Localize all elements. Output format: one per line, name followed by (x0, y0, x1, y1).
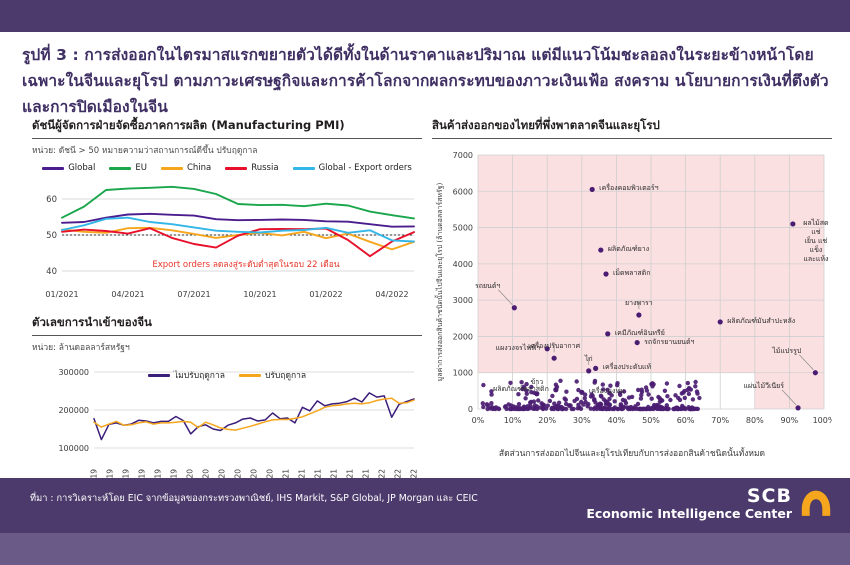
pmi-title: ดัชนีผู้จัดการฝ่ายจัดซื้อภาคการผลิต (Man… (32, 117, 422, 139)
scatter-point-labeled[interactable] (512, 305, 517, 310)
scatter-point (629, 405, 633, 409)
legend-swatch-global (42, 167, 64, 170)
scatter-point-labeled[interactable] (552, 356, 557, 361)
top-purple-band (0, 0, 850, 32)
source-note: ที่มา : การวิเคราะห์โดย EIC จากข้อมูลของ… (30, 491, 478, 506)
scatter-point (636, 402, 640, 406)
legend-swatch-china (161, 167, 183, 170)
svg-text:40%: 40% (608, 416, 626, 425)
scatter-point (693, 384, 697, 388)
scatter-point (665, 394, 669, 398)
legend-item-global[interactable]: Global (42, 163, 95, 173)
legend-item-eu[interactable]: EU (109, 163, 147, 173)
scatter-point (644, 385, 648, 389)
scatter-point (693, 380, 697, 384)
scatter-point (564, 398, 568, 402)
scatter-point (641, 407, 645, 411)
scatter-point (650, 397, 654, 401)
svg-text:30%: 30% (573, 416, 591, 425)
scatter-point (593, 405, 597, 409)
scatter-title: สินค้าส่งออกของไทยที่พึ่งพาตลาดจีนและยุโ… (432, 117, 832, 139)
scatter-point (571, 407, 575, 411)
scatter-label: ผลิตภัณฑ์มันสำปะหลัง (727, 317, 795, 326)
scatter-point (665, 381, 669, 385)
scatter-point (640, 388, 644, 392)
svg-text:60: 60 (46, 195, 57, 205)
scb-brand: SCB Economic Intelligence Center (586, 486, 832, 521)
scatter-point (623, 398, 627, 402)
legend-swatch-export-orders (293, 167, 315, 170)
scatter-point-labeled[interactable] (718, 319, 723, 324)
scatter-point (668, 398, 672, 402)
legend-swatch-eu (109, 167, 131, 170)
scatter-point-labeled[interactable] (590, 187, 595, 192)
svg-text:7000: 7000 (453, 151, 473, 160)
scatter-point (613, 399, 617, 403)
scatter-point (572, 399, 576, 403)
scatter-point-labeled[interactable] (579, 390, 584, 395)
scatter-chart: 010002000300040005000600070000%10%20%30%… (432, 147, 832, 442)
scatter-point (675, 407, 679, 411)
scatter-point (677, 384, 681, 388)
svg-text:4000: 4000 (453, 260, 473, 269)
scatter-label: เครื่องประดับแท้ (603, 363, 652, 372)
scatter-label: ข้าว (530, 378, 543, 387)
scatter-label: ผลไม้สด แช่เย็น แช่แข็งและแห้ง (800, 219, 832, 264)
pmi-xtick: 04/2022 (375, 290, 408, 299)
scatter-point (630, 395, 634, 399)
scatter-point-labeled[interactable] (790, 221, 795, 226)
legend-item-export-orders[interactable]: Global - Export orders (293, 163, 412, 173)
scatter-point (661, 407, 665, 411)
scatter-point (639, 393, 643, 397)
pmi-xtick: 10/2021 (243, 290, 276, 299)
scatter-point (546, 404, 550, 408)
scatter-point (598, 402, 602, 406)
svg-text:0%: 0% (472, 416, 485, 425)
scatter-point (518, 407, 522, 411)
scatter-point (585, 404, 589, 408)
scatter-label: ไม้แปรรูป (772, 347, 801, 356)
svg-text:50: 50 (46, 231, 57, 241)
footer-bar: ที่มา : การวิเคราะห์โดย EIC จากข้อมูลของ… (0, 478, 850, 533)
scatter-point (506, 402, 510, 406)
scatter-point (564, 407, 568, 411)
legend-label-export-orders: Global - Export orders (319, 163, 412, 173)
scatter-label: เครื่องนุ่งห่ม (589, 387, 625, 396)
imports-line-1 (94, 398, 414, 430)
scatter-point (660, 398, 664, 402)
scatter-label: รถยนต์ฯ (475, 282, 500, 291)
scatter-point (583, 396, 587, 400)
scatter-point (564, 390, 568, 394)
scatter-point-labeled[interactable] (586, 368, 591, 373)
scatter-label: รถจักรยานยนต์ฯ (644, 338, 694, 347)
scatter-point (528, 404, 532, 408)
scatter-point (666, 407, 670, 411)
scatter-point-labeled[interactable] (553, 387, 558, 392)
scatter-point (646, 407, 650, 411)
scatter-point (686, 381, 690, 385)
scb-arch-logo-icon (800, 489, 832, 519)
scatter-point (579, 400, 583, 404)
scatter-point (558, 379, 562, 383)
svg-text:1000: 1000 (453, 369, 473, 378)
scatter-point (497, 407, 501, 411)
pmi-xtick: 07/2021 (177, 290, 210, 299)
scatter-point (550, 394, 554, 398)
scatter-point-labeled[interactable] (605, 331, 610, 336)
legend-label-eu: EU (135, 163, 147, 173)
scatter-point (523, 407, 527, 411)
scatter-point (687, 407, 691, 411)
scatter-point (681, 391, 685, 395)
svg-text:2000: 2000 (453, 332, 473, 341)
scatter-label: แผ่นไม้วีเนียร์ (744, 382, 785, 391)
legend-label-russia: Russia (251, 163, 278, 173)
scatter-point (683, 407, 687, 411)
scatter-point (548, 399, 552, 403)
imports-line-0 (94, 393, 414, 440)
china-imports-panel: ตัวเลขการนำเข้าของจีน หน่วย: ล้านดอลลาร์… (32, 314, 422, 504)
pmi-line-1 (62, 187, 414, 219)
scatter-point (600, 407, 604, 411)
legend-label-china: China (187, 163, 211, 173)
scatter-point (532, 399, 536, 403)
scatter-point (646, 392, 650, 396)
svg-text:10%: 10% (504, 416, 522, 425)
brand-eic: Economic Intelligence Center (586, 506, 792, 521)
scatter-point (695, 391, 699, 395)
scatter-point (486, 403, 490, 407)
scatter-point (592, 397, 596, 401)
svg-text:6000: 6000 (453, 187, 473, 196)
svg-text:3000: 3000 (453, 296, 473, 305)
scatter-point (655, 403, 659, 407)
scatter-point (663, 389, 667, 393)
svg-text:80%: 80% (746, 416, 764, 425)
scatter-label: ยางพารา (625, 299, 653, 308)
scatter-point (697, 396, 701, 400)
svg-text:300000: 300000 (58, 368, 89, 377)
scatter-panel: สินค้าส่งออกของไทยที่พึ่งพาตลาดจีนและยุโ… (432, 117, 832, 460)
svg-text:0: 0 (468, 405, 473, 414)
svg-text:60%: 60% (677, 416, 695, 425)
scatter-point-labeled[interactable] (813, 370, 818, 375)
scatter-point (679, 407, 683, 411)
scatter-label: เคมีภัณฑ์อินทรีย์ (615, 329, 665, 338)
scatter-label: ไก่ (585, 355, 593, 364)
scatter-point (575, 379, 579, 383)
scatter-point-labeled[interactable] (598, 247, 603, 252)
svg-text:5000: 5000 (453, 224, 473, 233)
brand-scb: SCB (586, 486, 792, 506)
scatter-point-labeled[interactable] (603, 271, 608, 276)
scatter-point (519, 380, 523, 384)
legend-label-global: Global (68, 163, 95, 173)
scatter-point-labeled[interactable] (593, 366, 598, 371)
scatter-point (517, 402, 521, 406)
scatter-point (553, 405, 557, 409)
scatter-point (523, 396, 527, 400)
scatter-point (481, 405, 485, 409)
scatter-point (618, 406, 622, 410)
scatter-point (605, 406, 609, 410)
pmi-line-0 (62, 214, 414, 227)
scatter-label: เครื่องคอมพิวเตอร์ฯ (599, 184, 658, 193)
scatter-point (560, 407, 564, 411)
scatter-point (567, 403, 571, 407)
scatter-point (691, 397, 695, 401)
scatter-point (557, 401, 561, 405)
svg-text:100000: 100000 (58, 444, 89, 453)
scatter-point-labeled[interactable] (795, 405, 800, 410)
scatter-point (605, 400, 609, 404)
legend-swatch-russia (225, 167, 247, 170)
scatter-x-axis-title: สัดส่วนการส่งออกไปจีนและยุโรปเทียบกับการ… (432, 446, 832, 460)
scatter-label: เม็ดพลาสติก (613, 269, 650, 278)
scatter-point (676, 396, 680, 400)
pmi-unit: หน่วย: ดัชนี > 50 หมายความว่าสถานการณ์ดี… (32, 143, 422, 157)
svg-text:40: 40 (46, 267, 57, 277)
scatter-label: เครื่องปรับอากาศ (528, 342, 580, 351)
bottom-light-band (0, 533, 850, 565)
page-title: รูปที่ 3 : การส่งออกในไตรมาสแรกขยายตัวได… (22, 42, 832, 120)
svg-text:70%: 70% (711, 416, 729, 425)
scatter-point (491, 407, 495, 411)
scatter-point (692, 407, 696, 411)
svg-text:50%: 50% (642, 416, 660, 425)
legend-item-russia[interactable]: Russia (225, 163, 278, 173)
scatter-point (541, 407, 545, 411)
scatter-point (533, 407, 537, 411)
scatter-point (687, 392, 691, 396)
pmi-x-axis-labels: 01/202104/202107/202110/202101/202204/20… (32, 290, 422, 302)
scatter-point (536, 398, 540, 402)
scatter-point (577, 405, 581, 409)
scatter-point-labeled[interactable] (636, 312, 641, 317)
pmi-annotation: Export orders ลดลงสู่ระดับต่ำสุดในรอบ 22… (152, 258, 339, 270)
pmi-xtick: 01/2022 (309, 290, 342, 299)
pmi-xtick: 01/2021 (45, 290, 78, 299)
scatter-point (481, 383, 485, 387)
pmi-panel: ดัชนีผู้จัดการฝ่ายจัดซื้อภาคการผลิต (Man… (32, 117, 422, 302)
legend-item-china[interactable]: China (161, 163, 211, 173)
scatter-point (481, 401, 485, 405)
svg-text:200000: 200000 (58, 406, 89, 415)
scatter-point (593, 380, 597, 384)
scatter-label: ผลิตภัณฑ์ยาง (608, 245, 649, 254)
scatter-point (687, 386, 691, 390)
scatter-point (504, 407, 508, 411)
svg-text:90%: 90% (781, 416, 799, 425)
imports-title: ตัวเลขการนำเข้าของจีน (32, 314, 422, 336)
svg-text:100%: 100% (813, 416, 832, 425)
svg-text:20%: 20% (538, 416, 556, 425)
pmi-legend: Global EU China Russia Global - Export o… (32, 163, 422, 173)
scatter-point (651, 406, 655, 410)
pmi-xtick: 04/2021 (111, 290, 144, 299)
scatter-point (615, 381, 619, 385)
pmi-chart: 405060Export orders ลดลงสู่ระดับต่ำสุดใน… (32, 175, 422, 302)
scatter-point-labeled[interactable] (635, 340, 640, 345)
scatter-point (651, 382, 655, 386)
scatter-y-axis-title: มูลค่าการส่งออกสินค้าชนิดนั้นไปจีนและยุโ… (433, 182, 444, 381)
scatter-point (683, 396, 687, 400)
